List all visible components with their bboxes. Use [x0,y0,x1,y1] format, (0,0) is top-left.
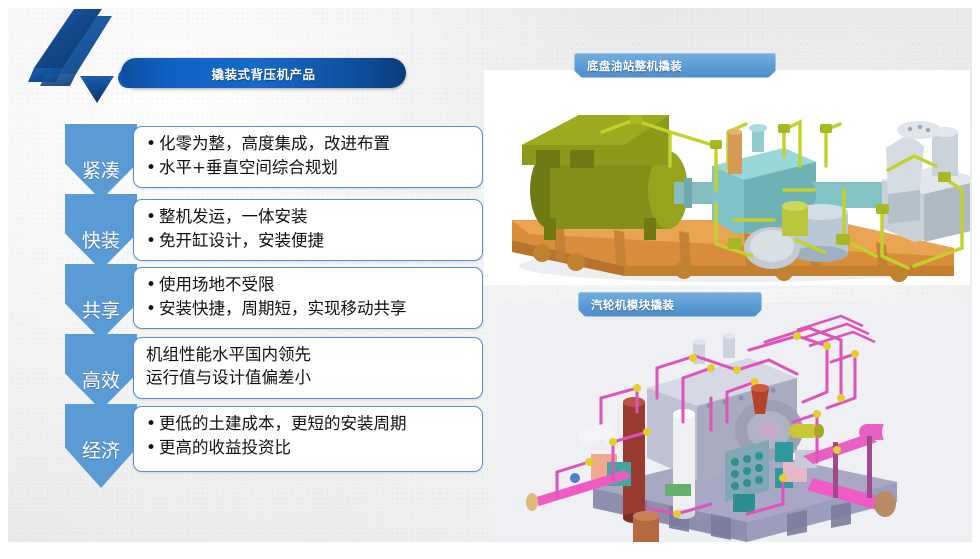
feature-line: 使用场地不受限 [146,273,472,297]
feature-line: 免开缸设计，安装便捷 [146,229,472,253]
feature-textbox-3: 使用场地不受限安装快捷，周期短，实现移动共享 [133,267,483,329]
feature-chevron-5 [65,404,137,488]
feature-list: 紧凑化零为整，高度集成，改进布置水平+垂直空间综合规划快装整机发运，一体安装免开… [65,124,483,494]
feature-line: 化零为整，高度集成，改进布置 [146,132,472,156]
feature-textbox-4: 机组性能水平国内领先运行值与设计值偏差小 [133,337,483,399]
feature-chevron-3 [65,264,137,340]
photo-skid-generator [484,70,970,285]
feature-textbox-2: 整机发运，一体安装免开缸设计，安装便捷 [133,199,483,261]
feature-line: 更高的收益投资比 [146,436,472,460]
caption-text: 汽轮机模块撬装 [591,297,674,313]
feature-line: 机组性能水平国内领先 [146,343,472,366]
feature-line: 安装快捷，周期短，实现移动共享 [146,297,472,321]
caption-text: 底盘油站整机撬装 [587,58,682,74]
photo-turbine-module [497,302,970,542]
photo-caption-skid-generator: 底盘油站整机撬装 [574,53,776,78]
feature-textbox-5: 更低的土建成本，更短的安装周期更高的收益投资比 [133,406,483,472]
feature-line: 更低的土建成本，更短的安装周期 [146,412,472,436]
slide-title-banner: 撬装式背压机产品 [121,58,406,88]
feature-line: 水平+垂直空间综合规划 [146,156,472,180]
slide-canvas: 撬装式背压机产品 紧凑化零为整，高度集成，改进布置水平+垂直空间综合规划快装整机… [8,8,972,542]
feature-textbox-1: 化零为整，高度集成，改进布置水平+垂直空间综合规划 [133,126,483,188]
page-title: 撬装式背压机产品 [211,64,315,83]
photo-caption-turbine-module: 汽轮机模块撬装 [578,292,762,317]
feature-line: 运行值与设计值偏差小 [146,366,472,389]
feature-chevron-1 [65,124,137,200]
feature-line: 整机发运，一体安装 [146,205,472,229]
feature-chevron-2 [65,194,137,270]
feature-chevron-4 [65,334,137,410]
company-logo-icon [22,8,152,106]
